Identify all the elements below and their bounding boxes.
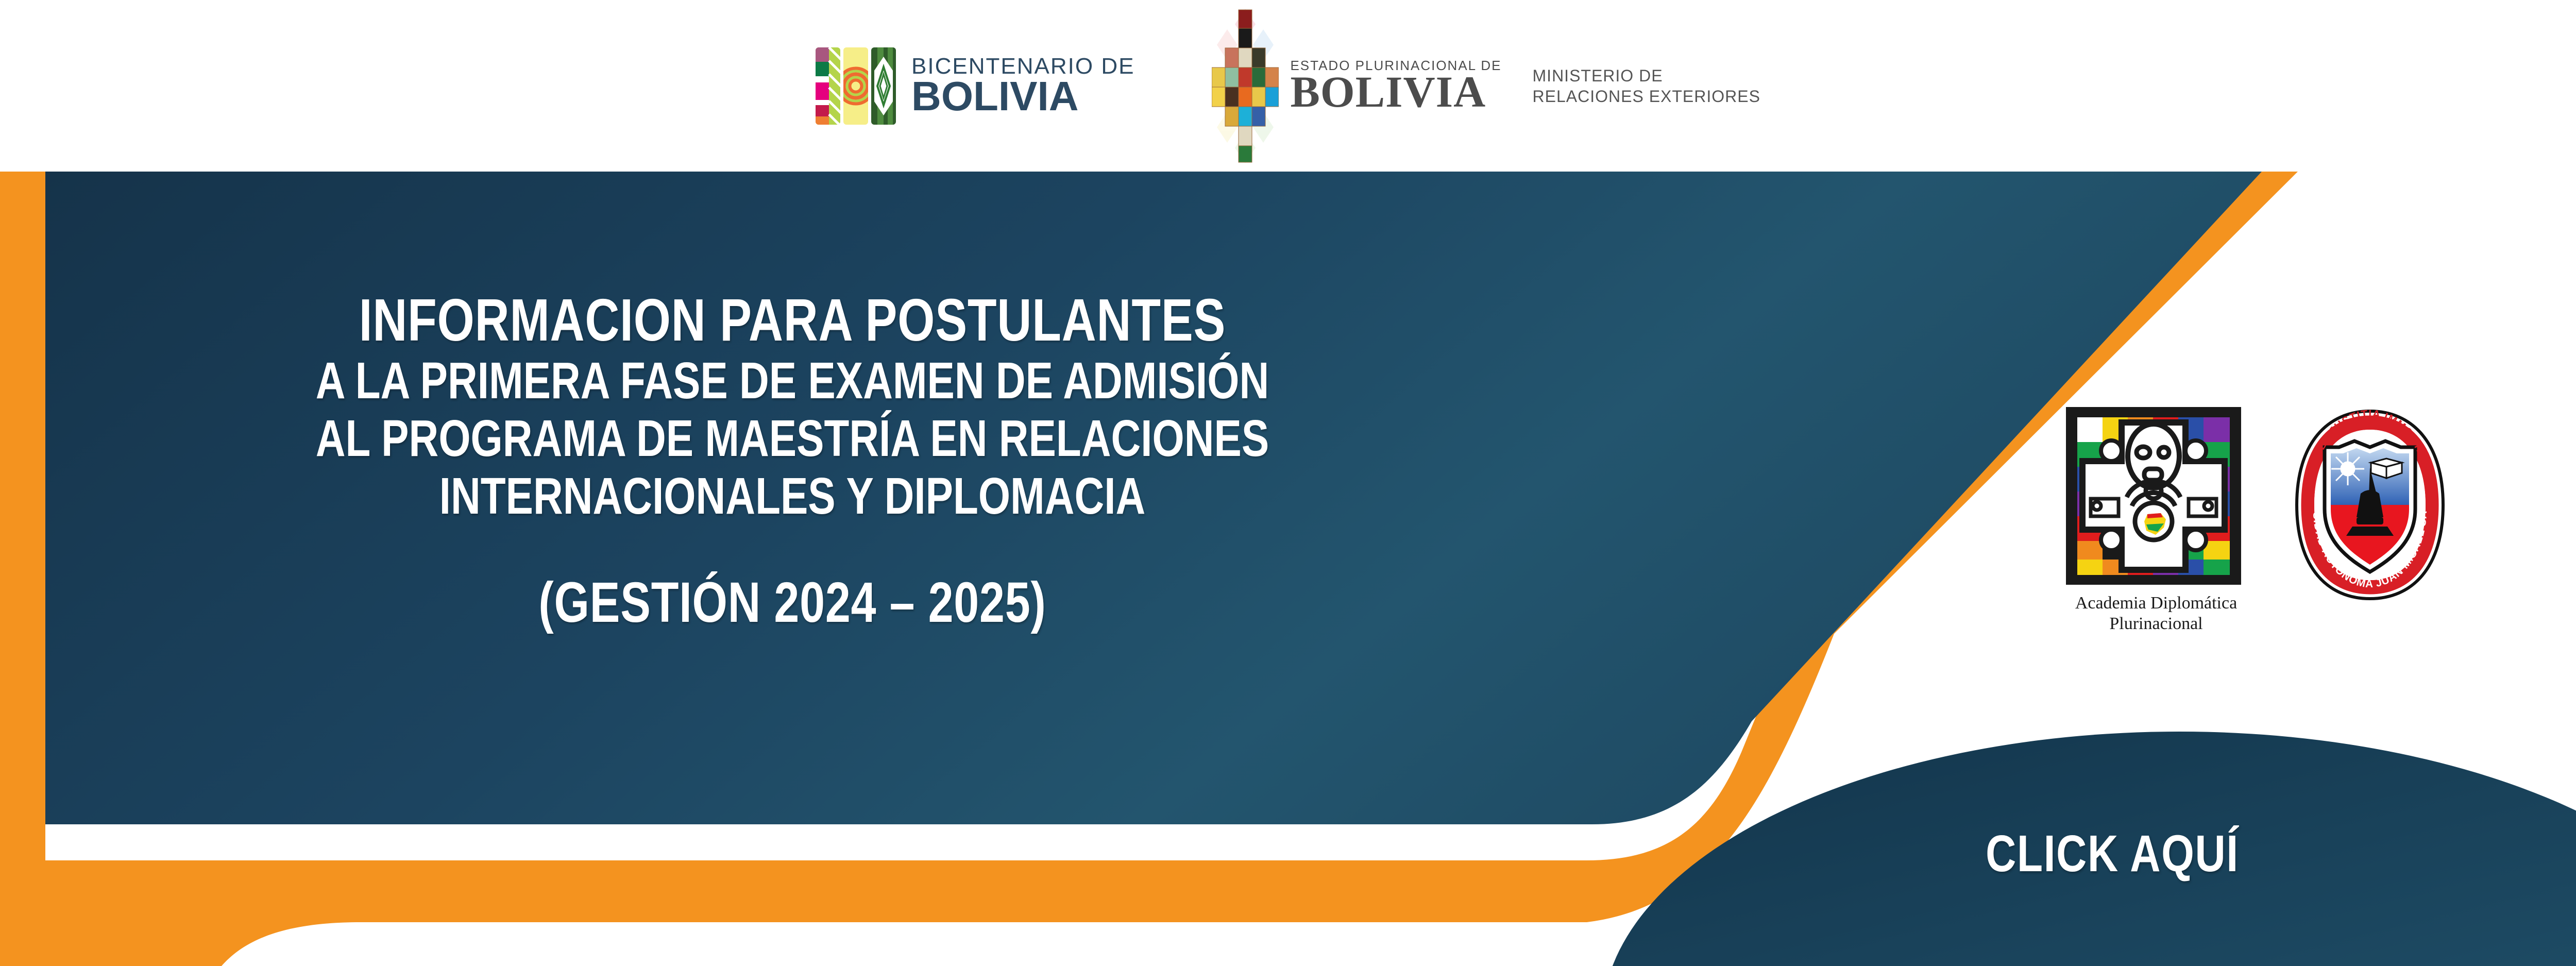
wiphala-cross-mark (1212, 9, 1279, 163)
headline-line-4: INTERNACIONALES Y DIPLOMACIA (195, 467, 1390, 525)
uajms-shield-seal: SAPIENTIA ET JUSTITIA IMMORTALES SUNT UN… (2293, 407, 2447, 603)
ministerio-line2: RELACIONES EXTERIORES (1533, 86, 1760, 107)
ministerio-line1: MINISTERIO DE (1533, 65, 1760, 86)
uajms-logo: SAPIENTIA ET JUSTITIA IMMORTALES SUNT UN… (2293, 407, 2452, 605)
academia-diplomatica-seal (2066, 407, 2241, 585)
right-logo-group: Academia Diplomática Plurinacional (2066, 407, 2452, 634)
bicentenario-spiral-mark (816, 47, 903, 125)
headline-line-1: INFORMACION PARA POSTULANTES (195, 289, 1390, 352)
academia-caption-line1: Academia Diplomática (2066, 593, 2246, 614)
bicentenario-line2: BOLIVIA (911, 77, 1134, 115)
banner-headline: INFORMACION PARA POSTULANTES A LA PRIMER… (45, 289, 1539, 631)
estado-plurinacional-logo: ESTADO PLURINACIONAL DE BOLIVIA MINISTER… (1212, 9, 1760, 163)
click-aqui-button[interactable]: CLICK AQUÍ (1901, 824, 2324, 884)
header-logo-strip: BICENTENARIO DE BOLIVIA (0, 0, 2576, 172)
academia-diplomatica-logo: Academia Diplomática Plurinacional (2066, 407, 2246, 634)
headline-line-2: A LA PRIMERA FASE DE EXAMEN DE ADMISIÓN (195, 352, 1390, 410)
headline-line-3: AL PROGRAMA DE MAESTRÍA EN RELACIONES (195, 410, 1390, 467)
ministerio-block: MINISTERIO DE RELACIONES EXTERIORES (1533, 65, 1760, 107)
academia-caption: Academia Diplomática Plurinacional (2066, 593, 2246, 634)
bicentenario-logo: BICENTENARIO DE BOLIVIA (816, 47, 1134, 125)
academia-caption-line2: Plurinacional (2066, 614, 2246, 634)
headline-gestion: (GESTIÓN 2024 – 2025) (195, 574, 1390, 631)
estado-line2: BOLIVIA (1290, 72, 1501, 112)
